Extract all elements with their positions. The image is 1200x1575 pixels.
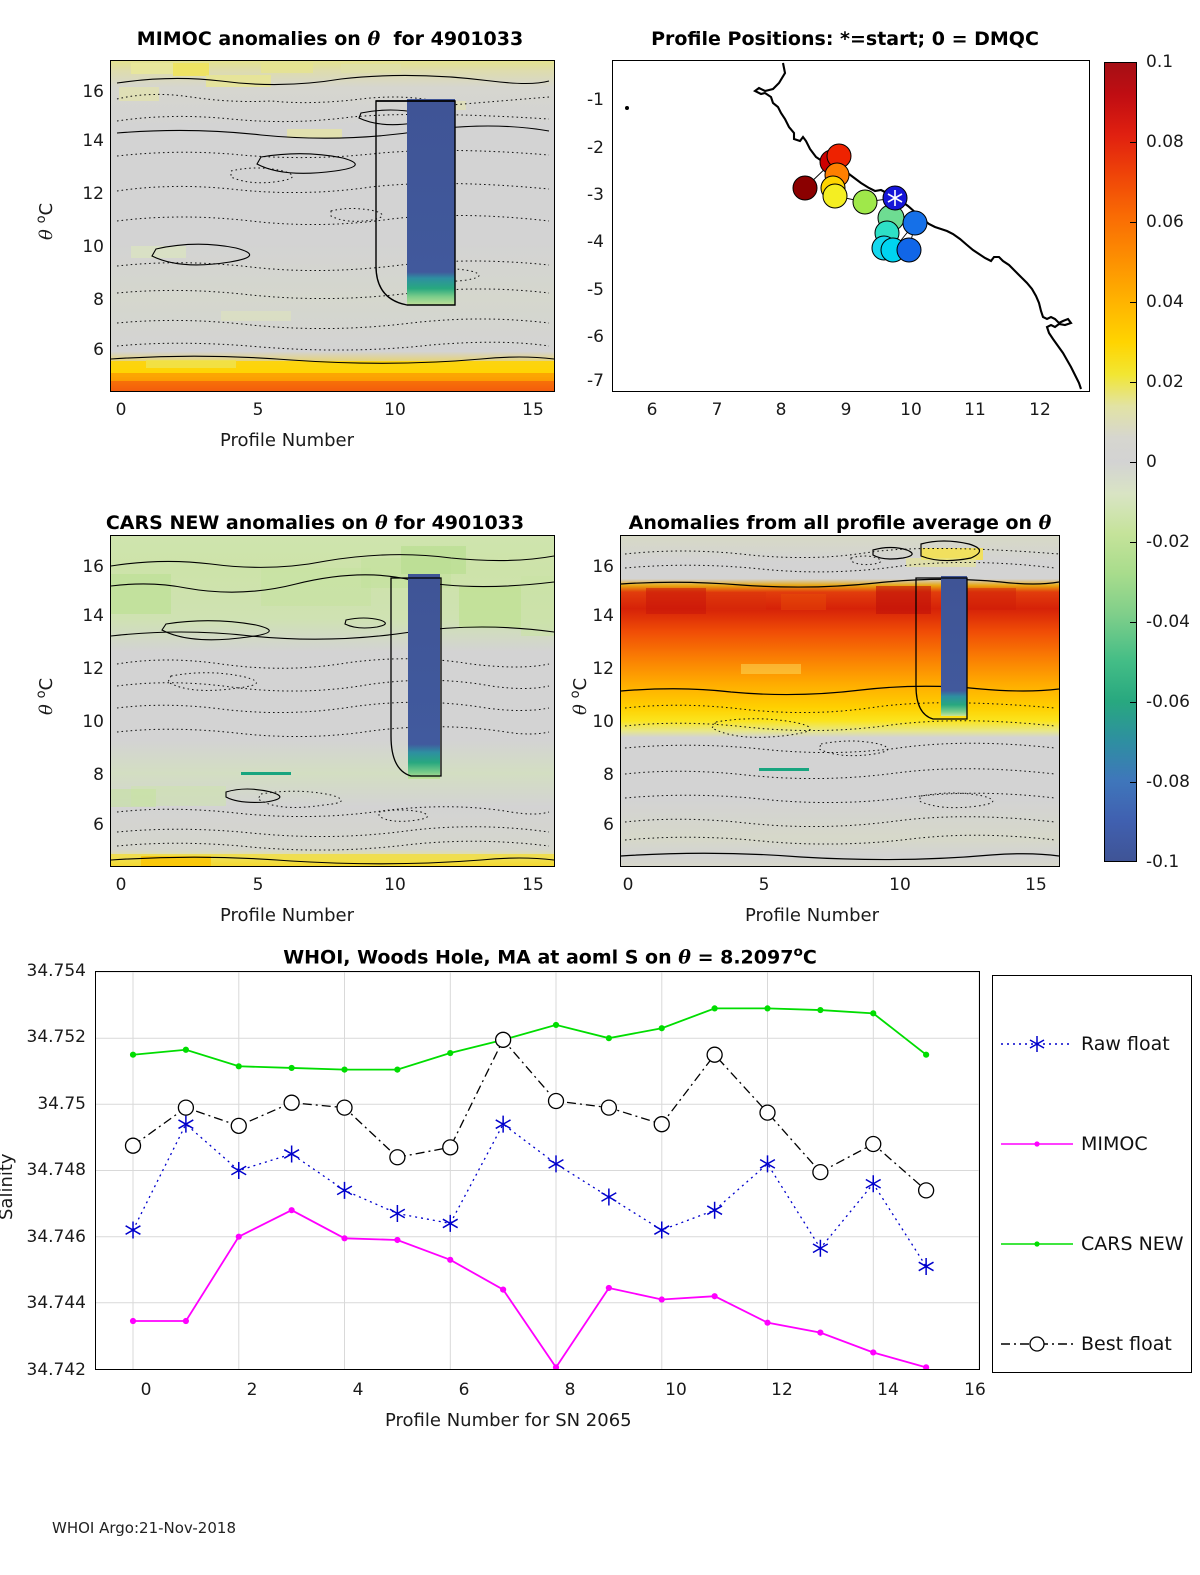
colorbar-tick-label: 0.06: [1146, 212, 1184, 232]
map-xtick: 7: [712, 400, 723, 420]
series-raw-float: [126, 1116, 934, 1275]
cars-xlabel: Profile Number: [220, 905, 354, 926]
mimoc-ylabel-unit: oC: [36, 203, 57, 224]
salinity-xtick: 14: [877, 1380, 899, 1400]
colorbar-tick-label: 0.02: [1146, 372, 1184, 392]
salinity-ytick: 34.754: [0, 961, 86, 981]
profavg-xlabel: Profile Number: [745, 905, 879, 926]
colorbar-tick-label: 0.08: [1146, 132, 1184, 152]
panel-cars: CARS NEW anomalies on θ for 4901033 θ oC: [0, 470, 580, 940]
legend-line-sample: [1001, 1331, 1073, 1357]
mimoc-ytick: 12: [62, 184, 104, 204]
salinity-ytick: 34.744: [0, 1293, 86, 1313]
panel-map: Profile Positions: *=start; 0 = DMQC: [580, 0, 1100, 470]
salinity-plot: [96, 972, 979, 1369]
salinity-xtick: 16: [964, 1380, 986, 1400]
salinity-title-theta: θ: [678, 946, 691, 968]
legend-item-best-float[interactable]: Best float: [993, 1331, 1191, 1357]
profavg-ytick: 12: [572, 659, 614, 679]
legend-item-label: MIMOC: [1081, 1131, 1148, 1157]
mimoc-xlabel: Profile Number: [220, 430, 354, 451]
salinity-xtick: 2: [247, 1380, 258, 1400]
profavg-title-theta: θ: [1039, 512, 1052, 534]
cars-title-a: CARS NEW anomalies on: [106, 512, 368, 534]
profavg-ytick: 14: [572, 606, 614, 626]
cars-xtick: 0: [116, 875, 127, 895]
map-ytick: -2: [568, 138, 604, 158]
cars-title-theta: θ: [375, 512, 388, 534]
legend-line-sample: [1001, 1031, 1073, 1057]
mimoc-ylabel-theta: θ: [36, 229, 57, 240]
panel-cars-title: CARS NEW anomalies on θ for 4901033: [106, 512, 524, 534]
colorbar-tick-label: 0.04: [1146, 292, 1184, 312]
panel-mimoc: MIMOC anomalies on θ for 4901033 θ oC: [0, 0, 580, 470]
colorbar-tick: [1130, 142, 1137, 143]
colorbar-tick: [1130, 462, 1137, 463]
colorbar-tick-label: -0.06: [1146, 692, 1190, 712]
mimoc-title-theta: θ: [367, 28, 380, 50]
salinity-xtick: 12: [771, 1380, 793, 1400]
map-xtick: 8: [776, 400, 787, 420]
profavg-ytick: 8: [572, 765, 614, 785]
cars-ytick: 10: [62, 712, 104, 732]
colorbar-tick-label: 0.1: [1146, 52, 1173, 72]
cars-ylabel-unit: oC: [36, 678, 57, 699]
mimoc-ylabel: θ oC: [34, 203, 57, 240]
colorbar-tick: [1130, 622, 1137, 623]
cars-xtick: 15: [522, 875, 544, 895]
map-xtick: 11: [964, 400, 986, 420]
mimoc-xtick: 15: [522, 400, 544, 420]
colorbar-tick: [1130, 222, 1137, 223]
profavg-ytick: 16: [572, 557, 614, 577]
series-best-float: [126, 1032, 934, 1198]
map-ytick: -3: [568, 185, 604, 205]
map-xtick: 6: [647, 400, 658, 420]
salinity-xtick: 8: [565, 1380, 576, 1400]
profavg-xtick: 0: [623, 875, 634, 895]
cars-axes: [110, 535, 555, 867]
legend-item-cars-new[interactable]: CARS NEW: [993, 1231, 1191, 1257]
figure-canvas: MIMOC anomalies on θ for 4901033 θ oC: [0, 0, 1200, 1575]
profavg-xtick: 10: [889, 875, 911, 895]
salinity-ytick: 34.748: [0, 1160, 86, 1180]
colorbar-tick: [1130, 382, 1137, 383]
panel-salinity-title: WHOI, Woods Hole, MA at aoml S on θ = 8.…: [283, 944, 817, 968]
map-ytick: -5: [568, 280, 604, 300]
mimoc-ytick: 10: [62, 237, 104, 257]
cars-ylabel: θ oC: [34, 678, 57, 715]
colorbar-tick-label: -0.1: [1146, 852, 1179, 872]
mimoc-ytick: 6: [62, 340, 104, 360]
panel-map-title: Profile Positions: *=start; 0 = DMQC: [651, 28, 1039, 50]
panel-profavg-title: Anomalies from all profile average on θ: [629, 512, 1052, 534]
cars-ytick: 14: [62, 606, 104, 626]
profavg-xtick: 15: [1025, 875, 1047, 895]
salinity-xtick: 4: [353, 1380, 364, 1400]
map-xtick: 10: [900, 400, 922, 420]
colorbar-tick-label: 0: [1146, 452, 1157, 472]
profavg-xtick: 5: [759, 875, 770, 895]
mimoc-title-a: MIMOC anomalies on: [137, 28, 361, 50]
series-mimoc: [130, 1208, 928, 1369]
legend-item-mimoc[interactable]: MIMOC: [993, 1131, 1191, 1157]
salinity-legend[interactable]: Raw float MIMOC CARS NEW Best float: [992, 975, 1192, 1373]
colorbar-tick-label: -0.08: [1146, 772, 1190, 792]
salinity-ytick: 34.742: [0, 1360, 86, 1380]
profavg-ylabel: θ oC: [568, 678, 591, 715]
mimoc-contour-image: [111, 61, 554, 391]
colorbar-tick: [1130, 702, 1137, 703]
profavg-ytick: 10: [572, 712, 614, 732]
profavg-ylabel-unit: oC: [570, 678, 591, 699]
map-ytick: -1: [568, 90, 604, 110]
profavg-contour-image: [621, 536, 1059, 866]
mimoc-ytick: 14: [62, 131, 104, 151]
salinity-xtick: 6: [459, 1380, 470, 1400]
cars-ytick: 16: [62, 557, 104, 577]
legend-item-label: Raw float: [1081, 1031, 1170, 1057]
series-cars-new: [130, 1006, 928, 1072]
salinity-ytick: 34.752: [0, 1027, 86, 1047]
salinity-title-b: = 8.2097: [698, 946, 794, 968]
cars-ytick: 12: [62, 659, 104, 679]
colorbar-tick-label: -0.04: [1146, 612, 1190, 632]
mimoc-title-b: for 4901033: [393, 28, 523, 50]
profavg-title-a: Anomalies from all profile average on: [629, 512, 1032, 534]
cars-ytick: 8: [62, 765, 104, 785]
map-axes: [612, 60, 1090, 392]
panel-salinity: WHOI, Woods Hole, MA at aoml S on θ = 8.…: [0, 930, 1200, 1530]
salinity-title-a: WHOI, Woods Hole, MA at aoml S on: [283, 946, 671, 968]
cars-ylabel-theta: θ: [36, 704, 57, 715]
profavg-ytick: 6: [572, 815, 614, 835]
colorbar-tick: [1130, 302, 1137, 303]
salinity-ytick: 34.746: [0, 1227, 86, 1247]
legend-item-label: CARS NEW: [1081, 1231, 1184, 1257]
colorbar-tick: [1130, 782, 1137, 783]
colorbar-tick-label: -0.02: [1146, 532, 1190, 552]
mimoc-xtick: 10: [384, 400, 406, 420]
legend-item-label: Best float: [1081, 1331, 1172, 1357]
cars-contour-image: [111, 536, 554, 866]
mimoc-xtick: 0: [116, 400, 127, 420]
colorbar-tick: [1130, 542, 1137, 543]
mimoc-xtick: 5: [253, 400, 264, 420]
figure-footer: WHOI Argo:21-Nov-2018: [52, 1519, 236, 1537]
legend-item-raw-float[interactable]: Raw float: [993, 1031, 1191, 1057]
map-ytick: -6: [568, 327, 604, 347]
panel-profile-average: Anomalies from all profile average on θ …: [580, 470, 1100, 940]
cars-ytick: 6: [62, 815, 104, 835]
cars-xtick: 10: [384, 875, 406, 895]
salinity-ytick: 34.75: [0, 1094, 86, 1114]
legend-line-sample: [1001, 1131, 1073, 1157]
map-xtick: 9: [841, 400, 852, 420]
map-xtick: 12: [1029, 400, 1051, 420]
panel-mimoc-title: MIMOC anomalies on θ for 4901033: [137, 28, 523, 50]
map-ytick: -4: [568, 232, 604, 252]
mimoc-ytick: 16: [62, 82, 104, 102]
salinity-axes: [95, 971, 980, 1370]
cars-title-b: for 4901033: [394, 512, 524, 534]
legend-line-sample: [1001, 1231, 1073, 1257]
mimoc-axes: [110, 60, 555, 392]
map-plot: [613, 61, 1089, 391]
profavg-axes: [620, 535, 1060, 867]
mimoc-ytick: 8: [62, 290, 104, 310]
salinity-xtick: 0: [141, 1380, 152, 1400]
cars-xtick: 5: [253, 875, 264, 895]
salinity-xtick: 10: [665, 1380, 687, 1400]
map-ytick: -7: [568, 371, 604, 391]
salinity-xlabel: Profile Number for SN 2065: [385, 1410, 632, 1431]
